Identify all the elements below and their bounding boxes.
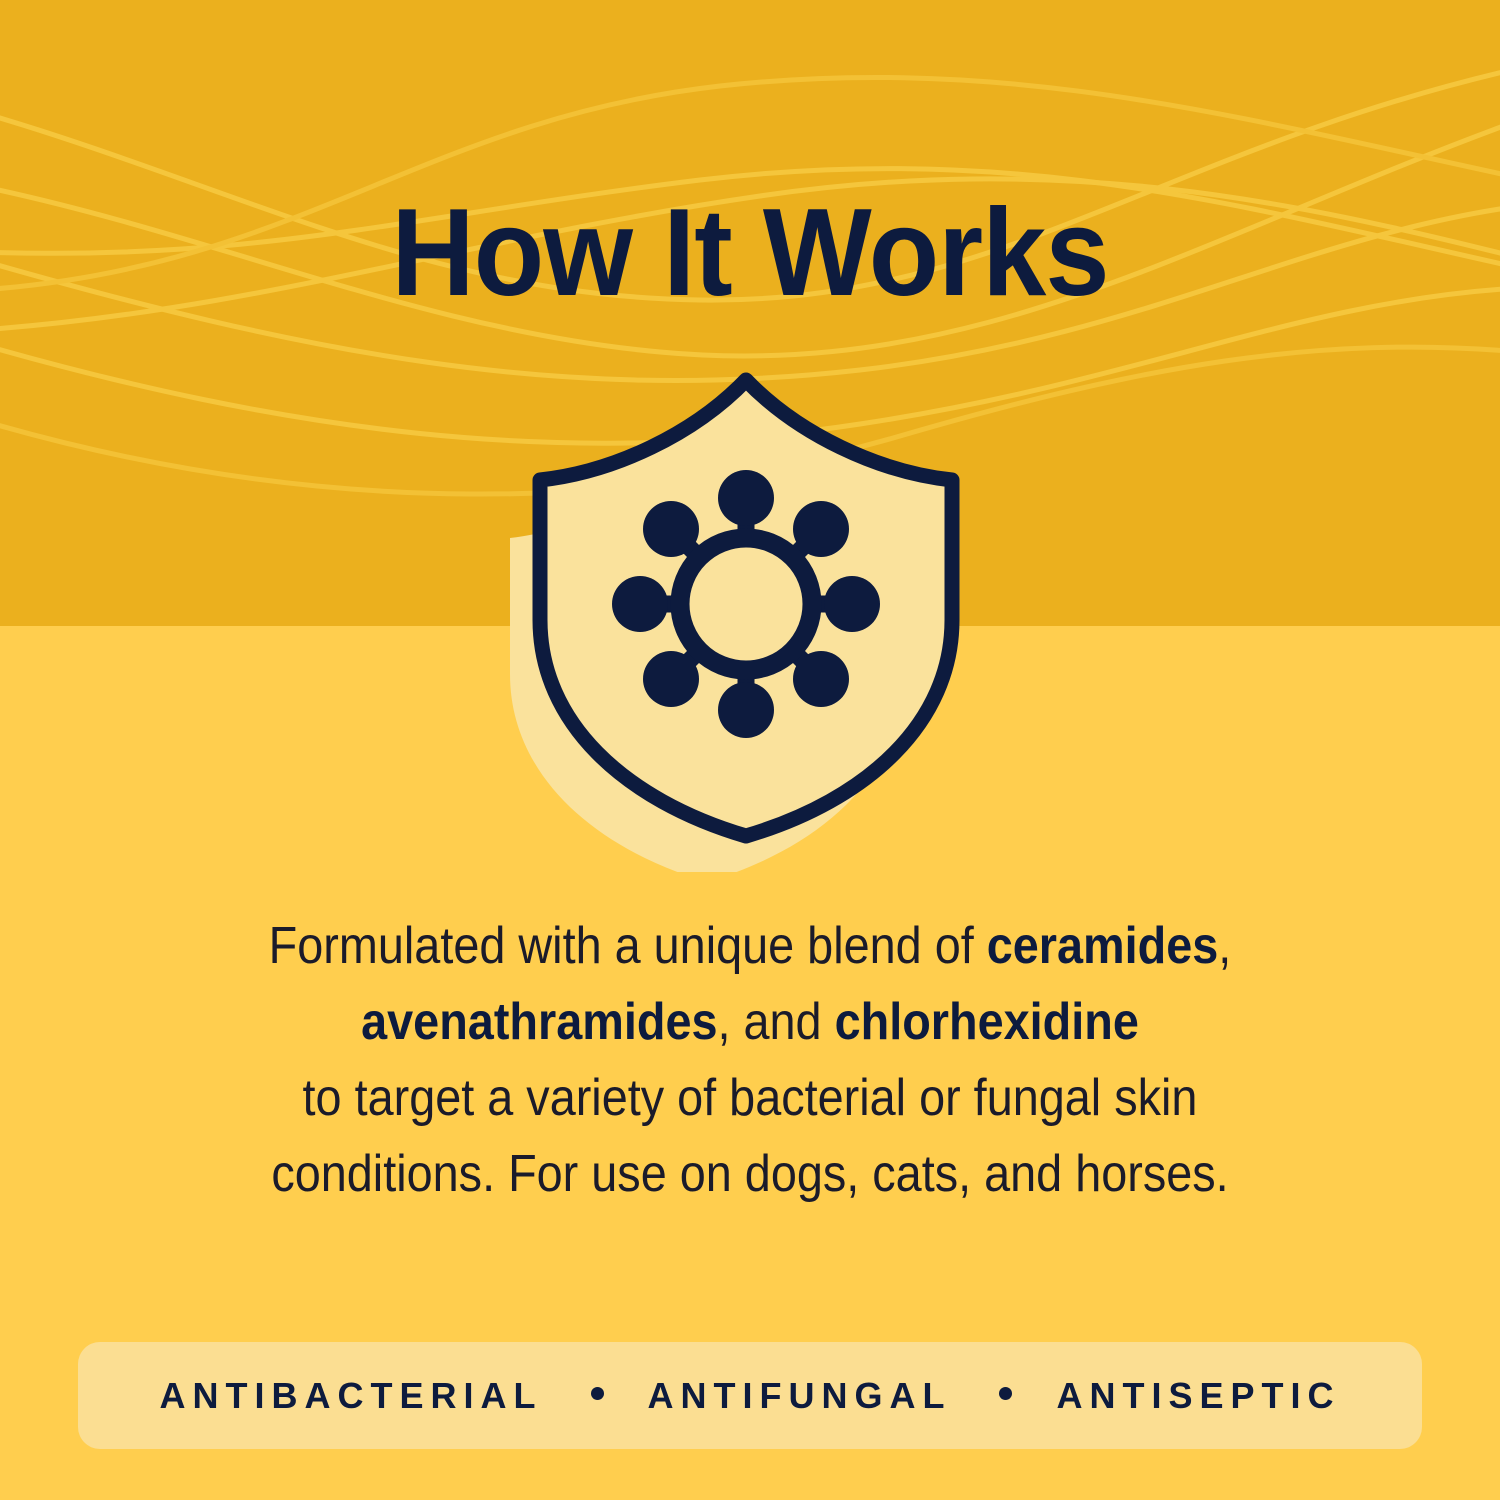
claim-antifungal: ANTIFUNGAL — [648, 1375, 952, 1417]
claims-badge-bar: ANTIBACTERIAL ANTIFUNGAL ANTISEPTIC — [78, 1342, 1422, 1449]
claim-antibacterial: ANTIBACTERIAL — [160, 1375, 543, 1417]
bullet-dot-icon — [999, 1387, 1012, 1400]
body-emphasis: avenathramides — [361, 993, 717, 1051]
body-line-3: to target a variety of bacterial or fung… — [210, 1060, 1290, 1136]
shield-germ-svg — [490, 352, 1010, 872]
body-line-1: Formulated with a unique blend of cerami… — [210, 908, 1290, 984]
body-copy: Formulated with a unique blend of cerami… — [210, 908, 1290, 1212]
body-emphasis: ceramides — [987, 917, 1219, 975]
body-text: , and — [718, 993, 835, 1051]
body-text: conditions. For use on dogs, cats, and h… — [271, 1145, 1228, 1203]
how-it-works-poster: How It Works — [0, 0, 1500, 1500]
body-text: , — [1218, 917, 1231, 975]
germ-core-ring — [680, 538, 812, 670]
body-line-2: avenathramides, and chlorhexidine — [210, 984, 1290, 1060]
body-emphasis: chlorhexidine — [835, 993, 1139, 1051]
claim-antiseptic: ANTISEPTIC — [1056, 1375, 1340, 1417]
shield-germ-icon — [490, 352, 1010, 872]
claims-list: ANTIBACTERIAL ANTIFUNGAL ANTISEPTIC — [160, 1375, 1341, 1417]
body-text: to target a variety of bacterial or fung… — [303, 1069, 1198, 1127]
page-title: How It Works — [53, 191, 1448, 315]
body-line-4: conditions. For use on dogs, cats, and h… — [210, 1136, 1290, 1212]
body-text: Formulated with a unique blend of — [269, 917, 987, 975]
bullet-dot-icon — [591, 1387, 604, 1400]
